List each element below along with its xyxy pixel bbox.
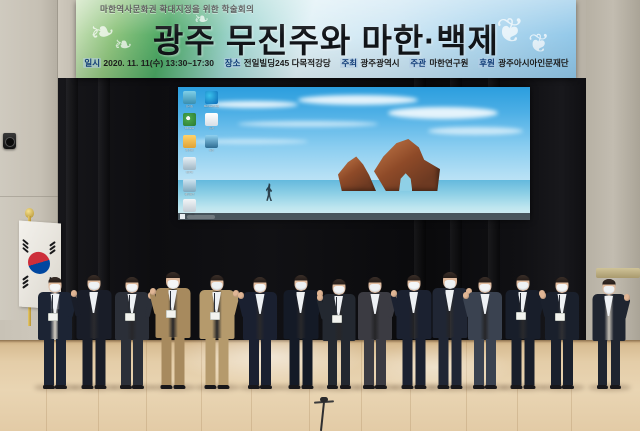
person-shoe <box>55 385 67 389</box>
person-leg-left <box>511 338 521 385</box>
desktop-icon-label: Chrome <box>182 127 197 130</box>
badge-lanyard <box>214 293 215 313</box>
person-leg-left <box>249 339 259 385</box>
banner-tag-date: 일시 <box>83 58 101 68</box>
person-legs <box>121 339 143 385</box>
person-legs <box>402 338 425 385</box>
person-leg-right <box>218 338 228 385</box>
person-legs <box>551 339 573 385</box>
raised-fist <box>391 290 397 297</box>
person-leg-right <box>611 340 620 385</box>
user-icon <box>183 157 196 170</box>
person-shoe <box>375 385 387 389</box>
face-mask <box>480 284 491 292</box>
recycle-bin-icon <box>183 91 196 104</box>
person <box>283 275 318 387</box>
desktop-icon-label: Microsoft Edge <box>204 105 219 108</box>
desktop-icon-chrome[interactable]: Chrome <box>182 113 197 130</box>
person-shoe <box>288 385 300 389</box>
person-leg-left <box>161 337 171 385</box>
desktop-icon-recycle-bin[interactable]: 휴지통 <box>182 91 197 108</box>
name-badge <box>166 310 176 318</box>
wall-seam-horizontal <box>0 196 58 197</box>
person-shoe <box>363 385 375 389</box>
wall-right-trim <box>596 268 640 278</box>
face-mask <box>603 286 614 294</box>
name-badge <box>555 313 565 321</box>
desktop-icon-label: 문서 <box>204 127 219 130</box>
desktop-icon-label: 내 PC <box>182 171 197 174</box>
person-legs <box>44 339 66 385</box>
face-mask <box>408 282 419 290</box>
person-shoe <box>473 385 485 389</box>
person <box>545 277 579 387</box>
raised-fist <box>317 294 323 301</box>
person-leg-left <box>328 340 337 385</box>
person-shoe <box>120 385 132 389</box>
person-shoe <box>510 385 522 389</box>
person-legs <box>474 339 496 385</box>
document-icon <box>205 113 218 126</box>
app-icon <box>183 199 196 212</box>
banner-value-host: 광주광역시 <box>360 58 399 68</box>
face-mask <box>255 284 266 292</box>
person <box>76 275 111 387</box>
desktop-icon-network[interactable]: 네트워크 <box>182 179 197 196</box>
picture-icon <box>205 135 218 148</box>
person-legs <box>161 337 184 385</box>
person <box>322 279 355 387</box>
raised-fist <box>150 288 156 295</box>
person-leg-right <box>174 337 184 385</box>
person-shoe <box>81 385 93 389</box>
face-mask <box>517 282 528 290</box>
person <box>358 277 392 387</box>
name-badge <box>516 312 526 320</box>
person-legs <box>82 338 105 385</box>
person-leg-left <box>121 339 131 385</box>
raised-fist <box>624 294 630 301</box>
person-shoe <box>327 385 338 389</box>
badge-lanyard <box>336 297 337 316</box>
windows-taskbar[interactable] <box>178 213 530 220</box>
microphone-stand <box>312 397 336 431</box>
person-shoe <box>301 385 313 389</box>
desktop-icon-label: 휴지통 <box>182 105 197 108</box>
name-badge <box>332 315 342 323</box>
person-shoe <box>94 385 106 389</box>
projection-screen: 휴지통 Microsoft Edge Chrome 문서 새 폴더 사진 내 P… <box>178 87 530 220</box>
banner-value-organizer: 마한연구원 <box>429 58 468 68</box>
desktop-icon-label: 사진 <box>204 149 219 152</box>
folder-icon <box>183 135 196 148</box>
person <box>432 272 467 387</box>
badge-lanyard <box>129 295 130 314</box>
edge-browser-icon <box>205 91 218 104</box>
desktop-icon-picture[interactable]: 사진 <box>204 135 219 152</box>
banner-tag-organizer: 주관 <box>409 58 427 68</box>
person-leg-left <box>205 338 215 385</box>
person-shoe <box>401 385 413 389</box>
raised-fist <box>238 292 244 299</box>
person-shoe <box>132 385 144 389</box>
start-button-icon[interactable] <box>180 214 185 219</box>
person-legs <box>364 339 386 385</box>
person-shoe <box>414 385 426 389</box>
person-leg-right <box>341 340 350 385</box>
person-shoe <box>160 385 172 389</box>
person-shoe <box>450 385 462 389</box>
person <box>38 277 72 387</box>
person-shoe <box>597 385 608 389</box>
face-mask <box>557 284 568 292</box>
person-legs <box>511 338 534 385</box>
banner-value-sponsor: 광주아시아인문재단 <box>498 58 568 68</box>
raised-fist <box>71 290 77 297</box>
badge-lanyard <box>520 293 521 313</box>
person-shoe <box>485 385 497 389</box>
name-badge <box>210 312 220 320</box>
person-shoe <box>248 385 260 389</box>
person-shoe <box>340 385 351 389</box>
raised-fist <box>540 292 546 299</box>
person-leg-right <box>302 338 312 385</box>
person-leg-right <box>451 337 461 385</box>
person-legs <box>438 337 461 385</box>
person-legs <box>328 340 350 385</box>
taskbar-search-input[interactable] <box>187 215 215 219</box>
person-legs <box>249 339 271 385</box>
desktop-icon-document[interactable]: 문서 <box>204 113 219 130</box>
person <box>505 275 540 387</box>
person <box>243 277 277 387</box>
banner-value-venue: 전일빌딩245 다목적강당 <box>244 58 331 68</box>
person-leg-right <box>524 338 534 385</box>
person-leg-right <box>133 339 143 385</box>
banner-tag-host: 주최 <box>340 58 358 68</box>
banner-value-date: 2020. 11. 11(수) 13:30~17:30 <box>103 58 214 68</box>
person-leg-left <box>402 338 412 385</box>
person <box>396 275 431 387</box>
person-leg-right <box>56 339 66 385</box>
person-shoe <box>260 385 272 389</box>
person <box>199 275 234 387</box>
person <box>468 277 502 387</box>
person-shoe <box>562 385 574 389</box>
person-legs <box>289 338 312 385</box>
face-mask <box>88 282 99 290</box>
face-mask <box>370 284 381 292</box>
face-mask <box>333 286 344 294</box>
network-icon <box>183 179 196 192</box>
person-shoe <box>437 385 449 389</box>
person-shoe <box>204 385 216 389</box>
face-mask <box>211 282 222 290</box>
person-leg-right <box>95 338 105 385</box>
person-legs <box>598 340 620 385</box>
name-badge <box>125 313 135 321</box>
face-mask <box>50 284 61 292</box>
person-leg-left <box>364 339 374 385</box>
desktop-icon-label: 새 폴더 <box>182 149 197 152</box>
name-badge <box>48 313 58 321</box>
person-shoe <box>43 385 55 389</box>
desktop-icon-user[interactable]: 내 PC <box>182 157 197 174</box>
badge-lanyard <box>52 295 53 314</box>
chrome-browser-icon <box>183 113 196 126</box>
face-mask <box>295 282 306 290</box>
person-shoe <box>173 385 185 389</box>
face-mask <box>127 284 138 292</box>
banner-tag-venue: 장소 <box>224 58 242 68</box>
person-shoe <box>217 385 229 389</box>
security-camera-icon <box>3 133 16 149</box>
badge-lanyard <box>170 291 171 311</box>
person-leg-left <box>82 338 92 385</box>
photo-canvas: ❧ ❧ ❧ ❦ ❦ 마한역사문화권 확대지정을 위한 학술회의 광주 무진주와 … <box>0 0 640 431</box>
person-leg-right <box>563 339 573 385</box>
person-leg-left <box>289 338 299 385</box>
desktop-icon-edge[interactable]: Microsoft Edge <box>204 91 219 108</box>
desktop-icon-folder[interactable]: 새 폴더 <box>182 135 197 152</box>
person-legs <box>205 338 228 385</box>
person-shoe <box>523 385 535 389</box>
person-leg-right <box>376 339 386 385</box>
person <box>592 279 625 387</box>
person <box>155 272 190 387</box>
badge-lanyard <box>559 295 560 314</box>
person-leg-left <box>44 339 54 385</box>
person-leg-left <box>598 340 607 385</box>
conference-banner: ❧ ❧ ❧ ❦ ❦ 마한역사문화권 확대지정을 위한 학술회의 광주 무진주와 … <box>76 0 576 78</box>
person-shoe <box>610 385 621 389</box>
person-leg-right <box>261 339 271 385</box>
person-shoe <box>550 385 562 389</box>
person-leg-left <box>474 339 484 385</box>
raised-fist <box>463 292 469 299</box>
taeguk-symbol-icon <box>28 251 50 275</box>
person-leg-left <box>551 339 561 385</box>
banner-info-line: 일시 2020. 11. 11(수) 13:30~17:30 장소 전일빌딩24… <box>76 57 576 69</box>
banner-title: 광주 무진주와 마한·백제 <box>76 14 576 62</box>
person-leg-right <box>486 339 496 385</box>
person <box>115 277 149 387</box>
person-leg-right <box>415 338 425 385</box>
desktop-icon-label: 네트워크 <box>182 193 197 196</box>
banner-tag-sponsor: 후원 <box>478 58 496 68</box>
person-leg-left <box>438 337 448 385</box>
